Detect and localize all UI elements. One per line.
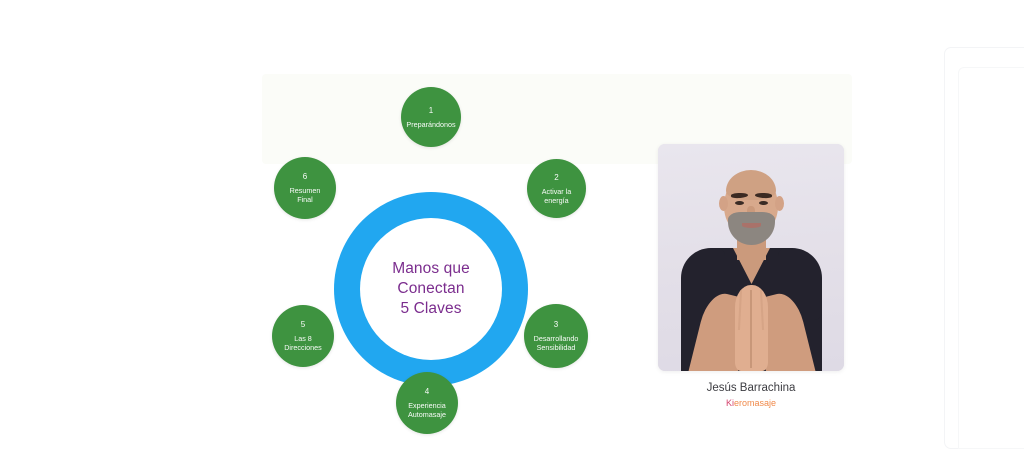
step-number: 4: [425, 387, 429, 397]
presenter-caption: Jesús Barrachina Kieromasaje: [658, 381, 844, 410]
step-number: 6: [303, 172, 307, 182]
step-node-5[interactable]: 5 Las 8 Direcciones: [272, 305, 334, 367]
step-label: Resumen Final: [288, 186, 323, 204]
presenter-video-tile[interactable]: [658, 144, 844, 371]
step-number: 5: [301, 320, 305, 330]
step-number: 3: [554, 320, 558, 330]
brand-prefix: Ki: [726, 398, 734, 408]
presenter-hand-seam: [750, 290, 752, 368]
slide-canvas: Manos que Conectan 5 Claves 1 Preparándo…: [0, 0, 1024, 442]
step-node-6[interactable]: 6 Resumen Final: [274, 157, 336, 219]
step-node-2[interactable]: 2 Activar la energía: [527, 159, 586, 218]
presenter-mouth: [742, 223, 761, 228]
presenter-name: Jesús Barrachina: [658, 381, 844, 396]
step-label: Desarrollando Sensibilidad: [532, 334, 581, 352]
diagram-center-title: Manos que Conectan 5 Claves: [392, 259, 470, 319]
presenter-eye-right: [759, 201, 768, 205]
step-label: Las 8 Direcciones: [282, 334, 324, 352]
presenter-brand: Kieromasaje: [658, 397, 844, 410]
step-node-3[interactable]: 3 Desarrollando Sensibilidad: [524, 304, 588, 368]
step-node-1[interactable]: 1 Preparándonos: [401, 87, 461, 147]
ring-center: Manos que Conectan 5 Claves: [360, 218, 502, 360]
brand-suffix: eromasaje: [734, 398, 776, 408]
blue-ring: Manos que Conectan 5 Claves: [334, 192, 528, 386]
presenter-ear-right: [775, 196, 784, 211]
step-label: Experiencia Automasaje: [406, 401, 448, 419]
presenter-eye-left: [735, 201, 744, 205]
presenter-ear-left: [719, 196, 728, 211]
step-node-4[interactable]: 4 Experiencia Automasaje: [396, 372, 458, 434]
step-number: 1: [429, 106, 433, 116]
step-number: 2: [554, 173, 558, 183]
circular-process-diagram: Manos que Conectan 5 Claves 1 Preparándo…: [262, 74, 598, 442]
step-label: Activar la energía: [540, 187, 574, 205]
right-side-panel-inner[interactable]: [958, 67, 1024, 449]
step-label: Preparándonos: [404, 120, 457, 129]
